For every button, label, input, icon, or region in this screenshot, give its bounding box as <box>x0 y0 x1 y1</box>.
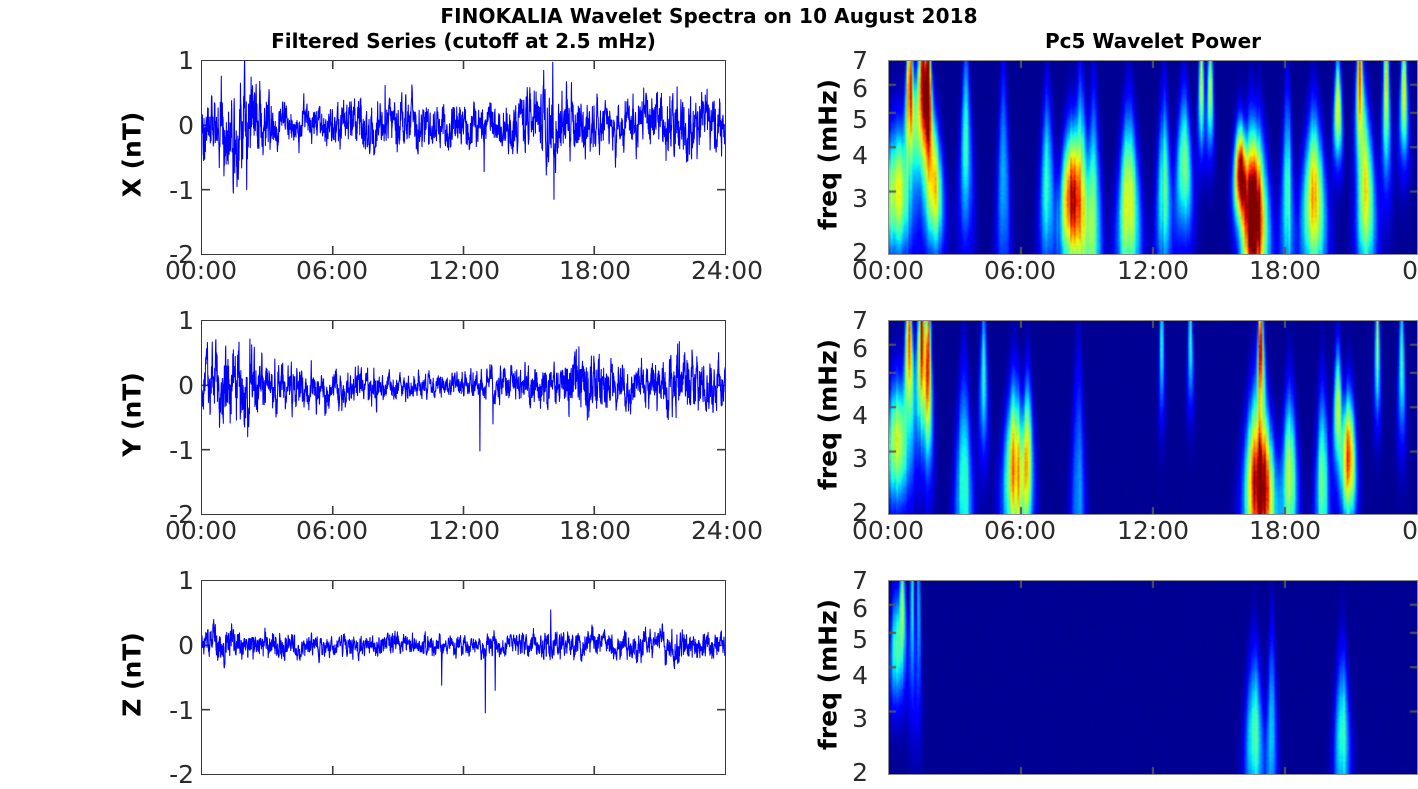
Z-wavelet-power-image <box>889 581 1417 774</box>
xtick-y-6: 06:00 <box>267 518 397 543</box>
ytick-z-m1: -1 <box>142 698 194 723</box>
ytick-x-1: 1 <box>150 48 194 73</box>
wavelet-plot-x[interactable] <box>888 60 1418 255</box>
ytick-z-0: 0 <box>150 633 194 658</box>
ftick-z-4: 4 <box>836 663 868 688</box>
timeseries-plot-y[interactable] <box>201 320 726 515</box>
xtick-x-12: 12:00 <box>399 258 529 283</box>
xtick-wy-6: 06:00 <box>955 518 1085 543</box>
xtick-wy-18: 18:00 <box>1220 518 1350 543</box>
ytick-z-m2: -2 <box>142 762 194 787</box>
ytick-y-m1: -1 <box>142 438 194 463</box>
ftick-x-4: 4 <box>836 143 868 168</box>
ytick-x-m1: -1 <box>142 178 194 203</box>
ftick-y-5: 5 <box>836 367 868 392</box>
ftick-x-7: 7 <box>836 48 868 73</box>
ftick-y-3: 3 <box>836 446 868 471</box>
ftick-y-4: 4 <box>836 403 868 428</box>
xtick-x-18: 18:00 <box>530 258 660 283</box>
ftick-x-3: 3 <box>836 186 868 211</box>
xtick-wx-0: 00:00 <box>823 258 953 283</box>
xtick-x-6: 06:00 <box>267 258 397 283</box>
X-filtered-series-canvas <box>202 61 725 254</box>
xtick-y-0: 00:00 <box>136 518 266 543</box>
xtick-wy-24: 00 <box>1353 518 1418 543</box>
right-column-title: Pc5 Wavelet Power <box>888 29 1418 53</box>
figure-suptitle: FINOKALIA Wavelet Spectra on 10 August 2… <box>0 4 1418 28</box>
xtick-y-18: 18:00 <box>530 518 660 543</box>
ftick-z-7: 7 <box>836 568 868 593</box>
xtick-y-24: 24:00 <box>662 518 792 543</box>
ftick-z-6: 6 <box>836 596 868 621</box>
ytick-z-1: 1 <box>150 568 194 593</box>
xtick-x-24: 24:00 <box>662 258 792 283</box>
ftick-x-6: 6 <box>836 76 868 101</box>
ftick-z-5: 5 <box>836 627 868 652</box>
xtick-wy-12: 12:00 <box>1088 518 1218 543</box>
xtick-x-0: 00:00 <box>136 258 266 283</box>
ytick-x-0: 0 <box>150 113 194 138</box>
xtick-wx-12: 12:00 <box>1088 258 1218 283</box>
xtick-wx-6: 06:00 <box>955 258 1085 283</box>
figure-canvas: FINOKALIA Wavelet Spectra on 10 August 2… <box>0 0 1418 788</box>
ytick-y-1: 1 <box>150 308 194 333</box>
ftick-x-5: 5 <box>836 107 868 132</box>
xtick-wx-18: 18:00 <box>1220 258 1350 283</box>
wavelet-plot-z[interactable] <box>888 580 1418 775</box>
wavelet-plot-y[interactable] <box>888 320 1418 515</box>
xtick-wy-0: 00:00 <box>823 518 953 543</box>
Z-filtered-series-canvas <box>202 581 725 774</box>
ftick-y-6: 6 <box>836 336 868 361</box>
xtick-wx-24: 00 <box>1353 258 1418 283</box>
Y-wavelet-power-image <box>889 321 1417 514</box>
ytick-y-0: 0 <box>150 373 194 398</box>
ftick-z-3: 3 <box>836 706 868 731</box>
xtick-y-12: 12:00 <box>399 518 529 543</box>
left-column-title: Filtered Series (cutoff at 2.5 mHz) <box>201 29 726 53</box>
ftick-z-2: 2 <box>836 760 868 785</box>
timeseries-plot-z[interactable] <box>201 580 726 775</box>
X-wavelet-power-image <box>889 61 1417 254</box>
ftick-y-7: 7 <box>836 308 868 333</box>
Y-filtered-series-canvas <box>202 321 725 514</box>
timeseries-plot-x[interactable] <box>201 60 726 255</box>
